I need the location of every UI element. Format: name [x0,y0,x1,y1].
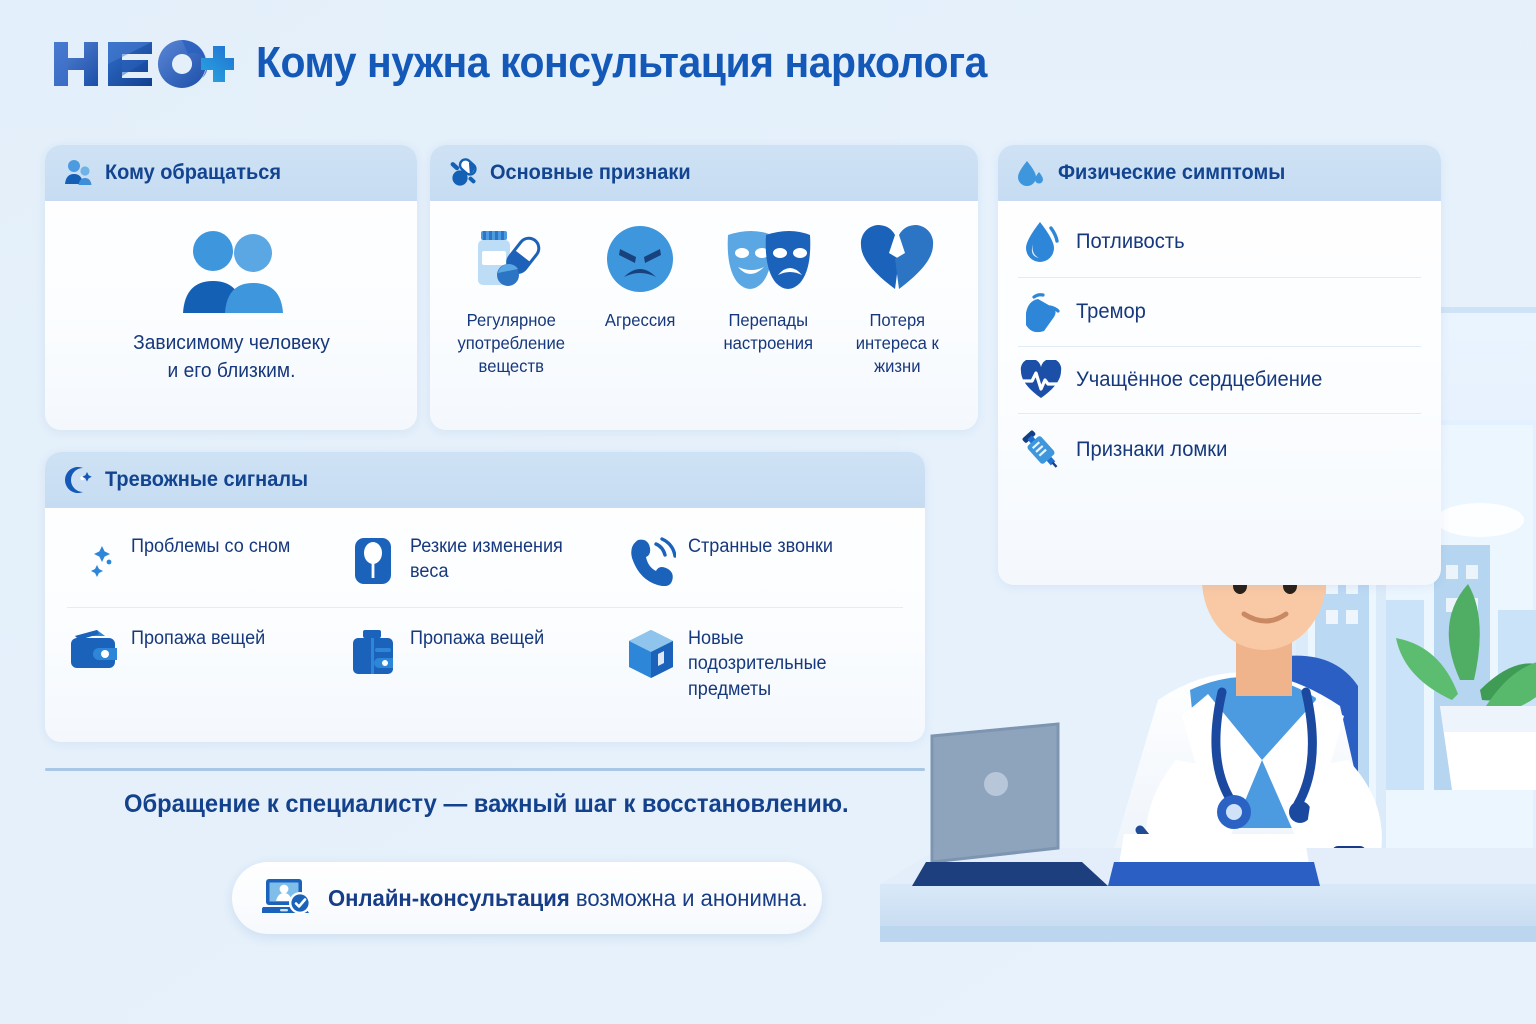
card-physical-title: Физические симптомы [1058,161,1285,185]
card-warning-title: Тревожные сигналы [105,468,308,492]
syringe-icon [1020,427,1062,473]
online-consultation-text: Онлайн-консультация возможна и анонимна. [328,885,808,912]
pill-bottle-icon [469,221,553,297]
sign-item: Регулярное употребление веществ [450,221,573,378]
card-main-signs-title: Основные признаки [490,161,691,185]
warning-item: Странные звонки [624,516,903,608]
card-audience-body: Зависимому человеку и его близким. [45,201,417,404]
online-consultation-badge[interactable]: Онлайн-консультация возможна и анонимна. [232,862,822,934]
card-audience-header: Кому обращаться [45,145,417,201]
warning-item-label: Резкие изменения веса [410,534,604,585]
physical-symptom-item: Тремор [1018,278,1421,347]
online-consultation-rest: возможна и анонимна. [570,885,808,911]
physical-symptom-item: Учащённое сердцебиение [1018,347,1421,414]
two-people-icon [167,229,295,313]
warning-item: Пропажа вещей [67,608,346,718]
moon-sleep-icon [69,534,119,586]
card-audience-title: Кому обращаться [105,161,281,185]
theatre-masks-icon [720,221,816,297]
card-warning-body: Проблемы со сном Резкие изменения веса [45,508,925,728]
neo-plus-logo-icon [48,34,234,92]
wallet-icon [69,626,119,672]
footer-separator [45,768,925,771]
page-title: Кому нужна консультация нарколога [256,38,987,88]
angry-face-icon [604,221,676,297]
sign-item: Агрессия [579,221,702,378]
card-physical-header: Физические симптомы [998,145,1441,201]
audience-line-2: и его близким. [133,357,330,385]
physical-symptom-item: Признаки ломки [1018,414,1421,486]
card-main-signs-body: Регулярное употребление веществ Агрессия [430,201,978,396]
card-audience-text: Зависимому человеку и его близким. [133,329,330,386]
card-physical-body: Потливость Тремор Учащённое сердце [998,201,1441,496]
warning-item-label: Новые подозрительные предметы [688,626,882,702]
droplet-icon [1020,220,1062,264]
warning-item: Пропажа вещей [346,608,625,718]
laptop-verified-icon [262,877,314,919]
warning-item-label: Проблемы со сном [131,534,290,559]
sign-item: Потеря интереса к жизни [836,221,959,378]
card-warning-header: Тревожные сигналы [45,452,925,508]
sign-item: Перепады настроения [707,221,830,378]
footer-note: Обращение к специалисту — важный шаг к в… [124,790,849,819]
card-main-signs-header: Основные признаки [430,145,978,201]
physical-symptom-label: Признаки ломки [1076,436,1227,463]
scale-icon [348,534,398,586]
sign-item-label: Перепады настроения [710,309,826,355]
bag-icon [348,626,398,676]
warning-row-bottom: Пропажа вещей Пропажа вещей [67,608,903,718]
sign-item-label: Потеря интереса к жизни [839,309,955,378]
broken-heart-icon [857,221,937,297]
card-main-signs: Основные признаки [430,145,978,430]
shaking-hand-icon [1020,291,1062,333]
warning-item-label: Странные звонки [688,534,833,559]
physical-symptom-label: Учащённое сердцебиение [1076,366,1322,393]
warning-row-top: Проблемы со сном Резкие изменения веса [67,516,903,608]
warning-item-label: Пропажа вещей [410,626,544,651]
audience-line-1: Зависимому человеку [133,329,330,357]
water-drops-icon [1016,158,1046,188]
moon-icon [63,465,93,495]
physical-symptom-label: Тремор [1076,298,1146,325]
card-warning-signals: Тревожные сигналы Проблемы со сном [45,452,925,742]
phone-call-icon [626,534,676,586]
header-bar: Кому нужна консультация нарколога [48,34,1042,92]
physical-symptom-label: Потливость [1076,228,1185,255]
warning-item: Резкие изменения веса [346,516,625,608]
online-consultation-bold: Онлайн-консультация [328,885,570,911]
warning-item: Новые подозрительные предметы [624,608,903,718]
sign-item-label: Регулярное употребление веществ [453,309,569,378]
card-audience: Кому обращаться Зависимому человеку и ег… [45,145,417,430]
people-icon [63,158,93,188]
physical-symptom-item: Потливость [1018,207,1421,278]
warning-item: Проблемы со сном [67,516,346,608]
pills-icon [448,158,478,188]
heartbeat-icon [1020,360,1062,400]
warning-item-label: Пропажа вещей [131,626,265,651]
sign-item-label: Агрессия [604,309,675,332]
card-physical-symptoms: Физические симптомы Потливость [998,145,1441,585]
package-icon [626,626,676,680]
